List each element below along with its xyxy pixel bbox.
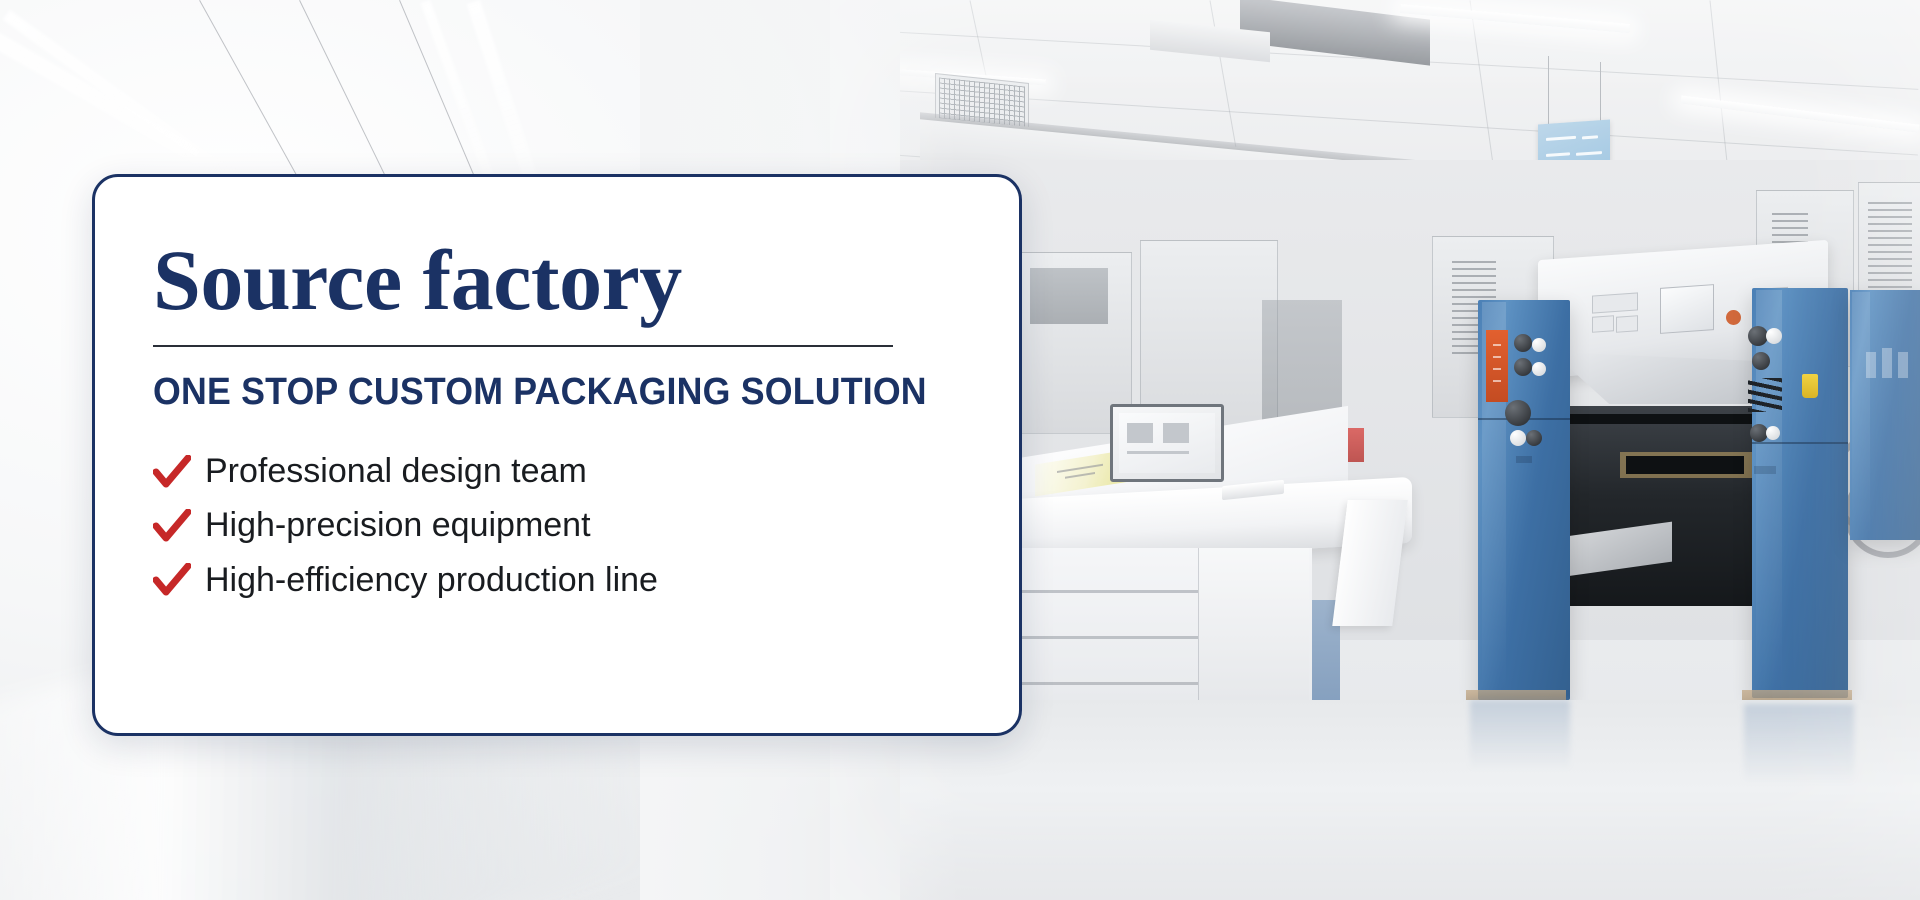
info-card: Source factory ONE STOP CUSTOM PACKAGING… [92, 174, 1022, 736]
red-wall-label [1348, 428, 1364, 462]
press-mechanism-slot [1626, 456, 1744, 474]
equipment-cabinet-panel [1030, 268, 1108, 324]
subtitle: ONE STOP CUSTOM PACKAGING SOLUTION [153, 373, 922, 413]
press-hood-panel [1592, 292, 1638, 313]
console-monitor [1110, 404, 1224, 482]
title-divider [153, 345, 893, 347]
cabinet-vent-slots [1868, 202, 1912, 288]
list-item: Professional design team [153, 453, 971, 490]
orange-control-panel [1486, 330, 1508, 402]
tower-dial [1505, 400, 1531, 426]
tower-knob [1532, 362, 1546, 376]
tower-knob [1748, 326, 1768, 346]
list-item: High-efficiency production line [153, 562, 971, 599]
floor-reflection [1744, 704, 1854, 784]
press-hood-panel [1616, 315, 1638, 333]
info-card-content: Source factory ONE STOP CUSTOM PACKAGING… [153, 237, 971, 616]
feature-list: Professional design team High-precision … [153, 453, 971, 599]
tower-knob [1766, 328, 1782, 344]
yellow-warning-tag [1802, 374, 1818, 398]
list-item-label: Professional design team [205, 453, 587, 490]
tower-badge [1754, 466, 1776, 474]
floor-reflection [1470, 700, 1570, 770]
tower-knob [1514, 334, 1532, 352]
sign-wire [1548, 56, 1549, 126]
tower-seam [1752, 442, 1848, 444]
list-item-label: High-precision equipment [205, 507, 591, 544]
tower-highlight [1756, 290, 1782, 696]
tower-knob [1752, 352, 1770, 370]
tower-knob [1526, 430, 1542, 446]
tower-knob [1510, 430, 1526, 446]
tower-knob [1766, 426, 1780, 440]
press-hood-button [1726, 310, 1741, 325]
tower-knob [1514, 358, 1532, 376]
press-hood-display [1660, 284, 1714, 334]
tower-cable-coil [1748, 378, 1782, 412]
tower-knob [1532, 338, 1546, 352]
press-hood-panel [1592, 315, 1614, 333]
check-icon [153, 509, 191, 543]
tower-highlight [1852, 292, 1870, 538]
sign-wire [1600, 62, 1601, 128]
list-item: High-precision equipment [153, 507, 971, 544]
tower-badge [1516, 456, 1532, 463]
list-item-label: High-efficiency production line [205, 562, 658, 599]
monitor-screen [1119, 413, 1215, 473]
check-icon [153, 455, 191, 489]
page-title: Source factory [153, 237, 971, 323]
hero-banner: Source factory ONE STOP CUSTOM PACKAGING… [0, 0, 1920, 900]
check-icon [153, 563, 191, 597]
